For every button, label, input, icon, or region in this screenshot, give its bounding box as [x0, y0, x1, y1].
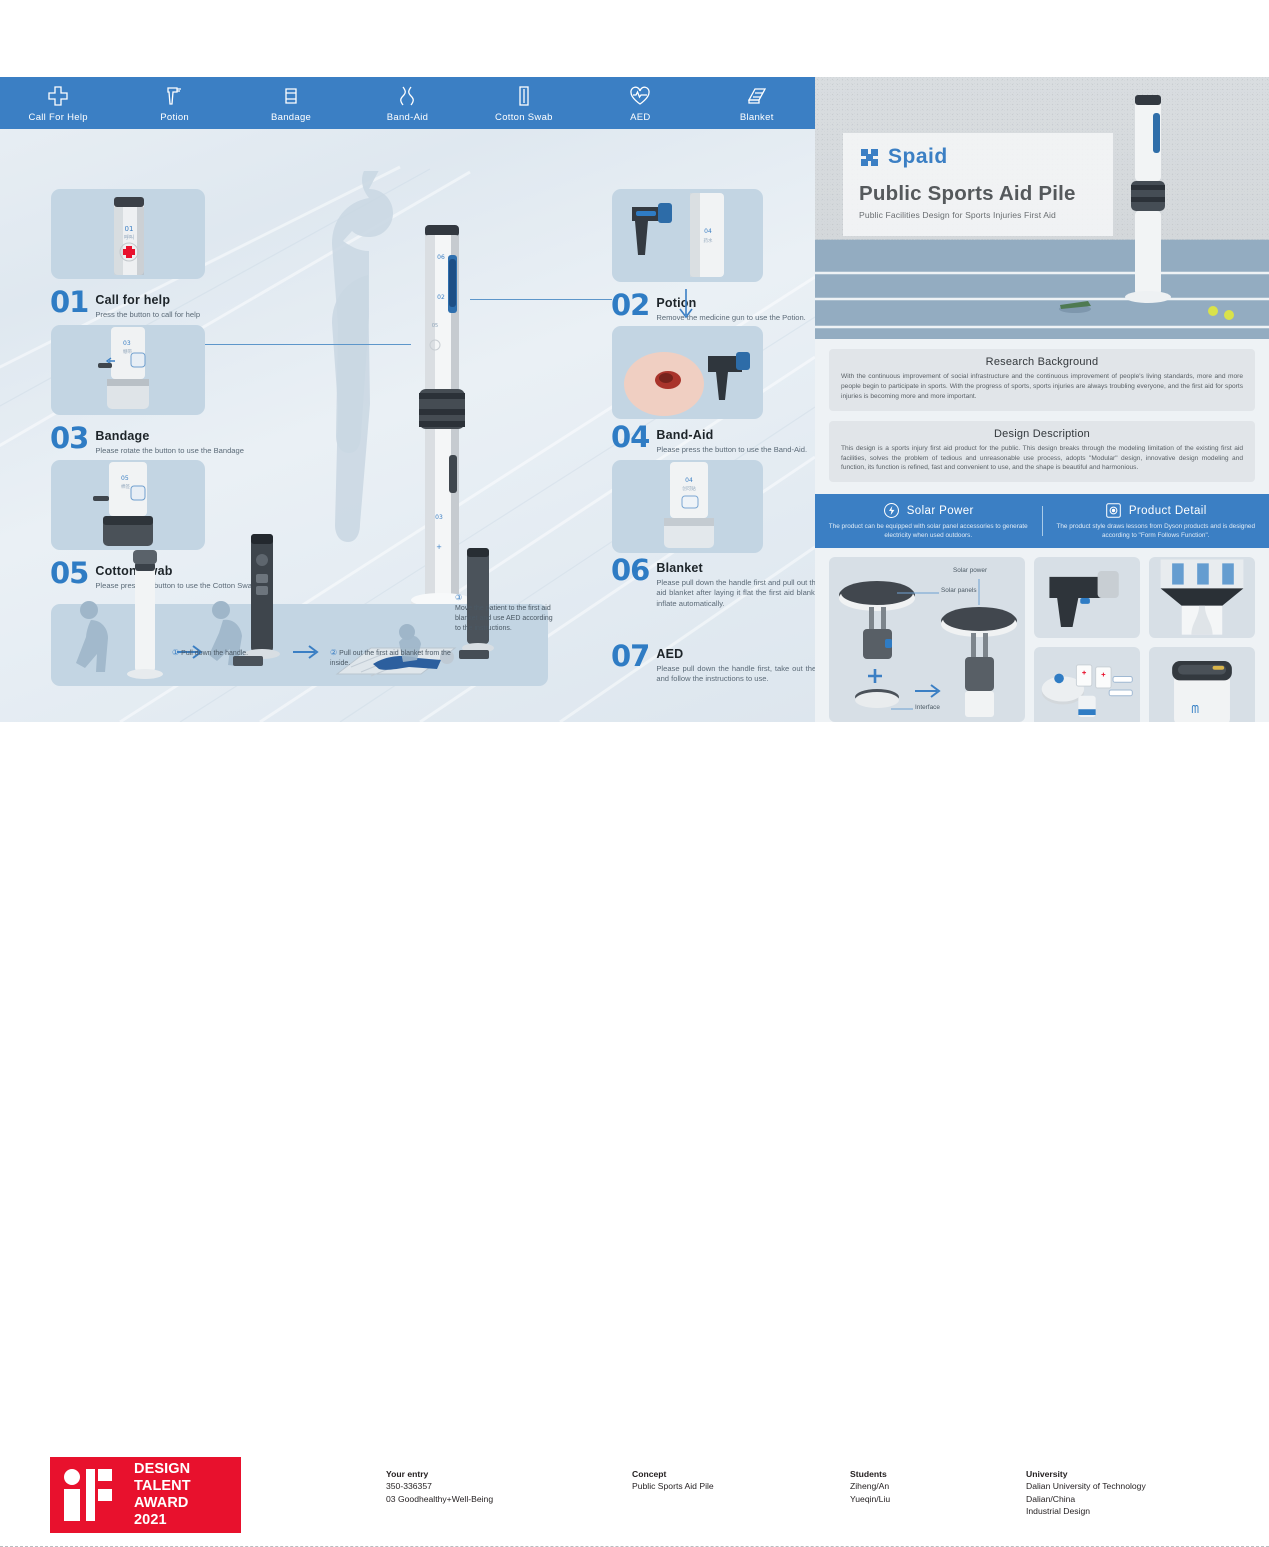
label-solar-panels: Solar panels — [941, 587, 977, 594]
nav-item-bandage[interactable]: Bandage — [233, 77, 349, 129]
brand-name: Spaid — [888, 145, 948, 169]
footer-students: Students Ziheng/An Yueqin/Liu — [850, 1468, 890, 1505]
bandage-roll-icon — [278, 83, 304, 109]
research-background-box: Research Background With the continuous … — [829, 349, 1255, 411]
svg-text:04: 04 — [704, 228, 712, 235]
research-heading: Research Background — [841, 356, 1243, 368]
step-01: 01 Call for help Press the button to cal… — [50, 289, 280, 320]
detail-thumb-grid: ᗰ — [1034, 557, 1255, 726]
university-department: Industrial Design — [1026, 1505, 1146, 1517]
callout-number: ③ — [455, 592, 551, 604]
step-03: 03 Bandage Please rotate the button to u… — [50, 425, 290, 456]
page-subtitle: Public Facilities Design for Sports Inju… — [859, 210, 1097, 220]
callout-text: Move the patient to the first aid blanke… — [455, 604, 553, 634]
product-render-call-for-help: 01 呼叫 — [51, 189, 205, 279]
students-label: Students — [850, 1468, 890, 1480]
solar-diagram-svg — [829, 557, 1025, 722]
thumb-band-aid: 04 创可贴 — [612, 460, 763, 553]
sequence-callout-2: ②Pull out the first aid blanket from the… — [330, 647, 460, 669]
nav-label: Call For Help — [29, 112, 88, 123]
svg-text:05: 05 — [432, 323, 438, 329]
sequence-callout-3: ③ Move the patient to the first aid blan… — [455, 592, 553, 634]
product-detail-area: Solar panels Solar power Interface — [815, 548, 1269, 726]
entry-label: Your entry — [386, 1468, 493, 1480]
nav-label: Bandage — [271, 112, 311, 123]
nav-label: AED — [630, 112, 650, 123]
hero-title-card: Spaid Public Sports Aid Pile Public Faci… — [843, 133, 1113, 236]
feature-band: Solar Power The product can be equipped … — [815, 494, 1269, 548]
nav-item-call-for-help[interactable]: Call For Help — [0, 77, 116, 129]
step-description: Please rotate the button to use the Band… — [95, 446, 244, 456]
cotton-swab-icon — [511, 83, 537, 109]
callout-number: ① — [172, 648, 179, 657]
step-02: 02 Potion Remove the medicine gun to use… — [611, 292, 815, 323]
step-description: Press the button to call for help — [95, 310, 200, 320]
callout-number: ② — [330, 648, 337, 657]
product-render-potion-gun: 04 药水 — [612, 189, 763, 282]
description-body: This design is a sports injury first aid… — [841, 444, 1243, 474]
if-logo-icon — [50, 1457, 124, 1533]
research-body: With the continuous improvement of socia… — [841, 372, 1243, 402]
heartbeat-icon — [627, 83, 653, 109]
feature-title: Product Detail — [1129, 505, 1207, 517]
step-07: 07 AED Please pull down the handle first… — [611, 643, 815, 685]
nav-label: Blanket — [740, 112, 774, 123]
hero-photo: Spaid Public Sports Aid Pile Public Faci… — [815, 77, 1269, 339]
svg-text:药水: 药水 — [704, 237, 713, 244]
thumb-bandage: 03 绷带 — [51, 325, 205, 415]
nav-label: Cotton Swab — [495, 112, 553, 123]
nav-item-aed[interactable]: AED — [582, 77, 698, 129]
thumb-potion-gun: 04 药水 — [612, 189, 763, 282]
feature-description: The product can be equipped with solar p… — [825, 522, 1032, 541]
svg-text:呼叫: 呼叫 — [124, 234, 134, 241]
feature-title: Solar Power — [907, 505, 974, 517]
svg-text:04: 04 — [685, 477, 693, 484]
solar-diagram: Solar panels Solar power Interface — [829, 557, 1025, 722]
detail-thumb-supplies — [1034, 647, 1140, 727]
concept-value: Public Sports Aid Pile — [632, 1480, 714, 1492]
step-06: 06 Blanket Please pull down the handle f… — [611, 557, 815, 609]
illustration-stage: 01 呼叫 01 Call for help Press the button … — [0, 129, 815, 722]
detail-thumb-module-joint — [1149, 557, 1255, 637]
page-title: Public Sports Aid Pile — [859, 183, 1097, 206]
callout-text: Pull down the handle. — [181, 650, 248, 657]
step-title: Band-Aid — [656, 428, 713, 442]
svg-text:ᗰ: ᗰ — [1191, 704, 1199, 716]
nav-label: Potion — [160, 112, 189, 123]
svg-text:棉签: 棉签 — [121, 483, 130, 490]
step-title: Bandage — [95, 429, 149, 443]
step-title: Blanket — [656, 561, 703, 575]
step-title: Call for help — [95, 293, 170, 307]
step-description: Please pull down the handle first, take … — [656, 664, 815, 685]
step-number: 02 — [611, 292, 649, 318]
label-interface: Interface — [915, 704, 940, 711]
student-2: Yueqin/Liu — [850, 1493, 890, 1505]
footer-university: University Dalian University of Technolo… — [1026, 1468, 1146, 1518]
spray-gun-icon — [162, 83, 188, 109]
svg-text:02: 02 — [437, 294, 445, 301]
nav-item-cotton-swab[interactable]: Cotton Swab — [466, 77, 582, 129]
entry-number: 350-336357 — [386, 1480, 493, 1492]
if-logo-text: DESIGN TALENT AWARD 2021 — [124, 1457, 241, 1533]
university-location: Dalian/China — [1026, 1493, 1146, 1505]
step-number: 01 — [50, 289, 88, 315]
award-line-2: TALENT AWARD — [134, 1478, 241, 1512]
award-line-1: DESIGN — [134, 1461, 241, 1478]
product-render-wound — [612, 326, 763, 419]
nav-item-blanket[interactable]: Blanket — [699, 77, 815, 129]
category-navbar: Call For Help Potion Bandage Band-Aid Co… — [0, 77, 815, 129]
footer: DESIGN TALENT AWARD 2021 Your entry 350-… — [0, 722, 1269, 897]
footer-concept: Concept Public Sports Aid Pile — [632, 1468, 714, 1493]
concept-label: Concept — [632, 1468, 714, 1480]
cross-icon — [45, 83, 71, 109]
feature-solar-power: Solar Power The product can be equipped … — [815, 502, 1042, 541]
thumb-wound-treatment — [612, 326, 763, 419]
module-joint-render — [1149, 557, 1255, 637]
top-cap-render: ᗰ — [1149, 647, 1255, 727]
label-solar-power: Solar power — [953, 567, 987, 574]
feature-description: The product style draws lessons from Dys… — [1053, 522, 1260, 541]
svg-text:06: 06 — [437, 254, 445, 261]
nav-label: Band-Aid — [387, 112, 428, 123]
svg-text:03: 03 — [435, 514, 443, 521]
svg-text:03: 03 — [123, 340, 131, 347]
supplies-render — [1034, 647, 1140, 727]
thumb-call-for-help: 01 呼叫 — [51, 189, 205, 279]
connector-line-bandage — [205, 344, 411, 345]
band-aid-icon — [394, 83, 420, 109]
blanket-icon — [744, 83, 770, 109]
svg-text:01: 01 — [125, 225, 134, 233]
sequence-callout-1: ①Pull down the handle. — [172, 647, 322, 659]
feature-product-detail: Product Detail The product style draws l… — [1043, 502, 1269, 541]
if-design-award-logo: DESIGN TALENT AWARD 2021 — [50, 1457, 241, 1533]
spaid-logo-icon — [859, 147, 880, 168]
nav-item-band-aid[interactable]: Band-Aid — [349, 77, 465, 129]
arrow-down-icon — [676, 287, 696, 323]
poster-body: Call For Help Potion Bandage Band-Aid Co… — [0, 77, 1269, 722]
detail-thumb-top-cap: ᗰ — [1149, 647, 1255, 727]
product-render-bandage: 03 绷带 — [51, 325, 205, 415]
svg-text:05: 05 — [121, 475, 129, 482]
design-description-box: Design Description This design is a spor… — [829, 421, 1255, 483]
step-description: Please press the button to use the Band-… — [656, 445, 807, 455]
step-number: 07 — [611, 643, 649, 669]
right-info-panel: Spaid Public Sports Aid Pile Public Faci… — [815, 77, 1269, 722]
connector-line-potion — [470, 299, 612, 300]
brand-lockup: Spaid — [859, 145, 1097, 169]
step-04: 04 Band-Aid Please press the button to u… — [611, 424, 815, 455]
step-title: AED — [656, 647, 683, 661]
nav-item-potion[interactable]: Potion — [116, 77, 232, 129]
product-render-band-aid: 04 创可贴 — [612, 460, 763, 553]
callout-text: Pull out the first aid blanket from the … — [330, 650, 451, 667]
description-heading: Design Description — [841, 428, 1243, 440]
entry-category: 03 Goodhealthy+Well-Being — [386, 1493, 493, 1505]
left-illustration-panel: Call For Help Potion Bandage Band-Aid Co… — [0, 77, 815, 722]
svg-text:创可贴: 创可贴 — [682, 485, 696, 492]
step-description: Please pull down the handle first and pu… — [656, 578, 815, 609]
award-line-3: 2021 — [134, 1512, 241, 1529]
student-1: Ziheng/An — [850, 1480, 890, 1492]
medicine-gun-render — [1034, 557, 1140, 637]
solar-power-icon — [883, 502, 900, 519]
step-number: 03 — [50, 425, 88, 451]
footer-entry: Your entry 350-336357 03 Goodhealthy+Wel… — [386, 1468, 493, 1505]
university-name: Dalian University of Technology — [1026, 1480, 1146, 1492]
product-detail-icon — [1105, 502, 1122, 519]
step-number: 06 — [611, 557, 649, 583]
university-label: University — [1026, 1468, 1146, 1480]
detail-thumb-medicine-gun — [1034, 557, 1140, 637]
step-number: 04 — [611, 424, 649, 450]
